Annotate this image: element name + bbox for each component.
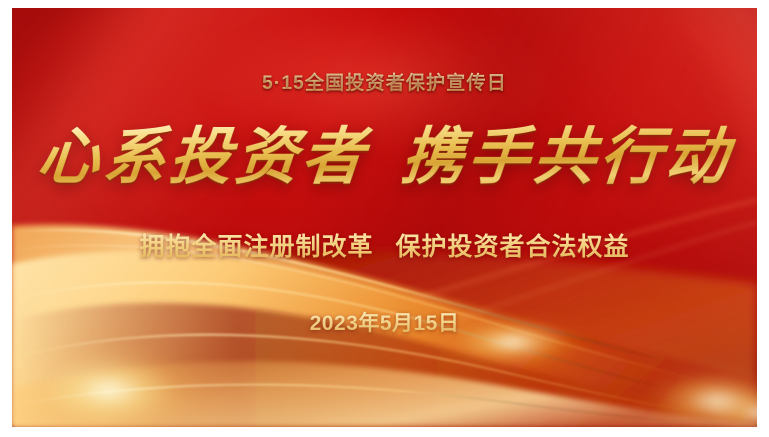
poster-subtitle: 拥抱全面注册制改革保护投资者合法权益 [12, 227, 757, 263]
poster-kicker-text: 5·15全国投资者保护宣传日 [12, 68, 757, 95]
poster-subtitle-part-2: 保护投资者合法权益 [396, 233, 630, 261]
poster-headline-part-1: 心系投资者 [34, 120, 370, 193]
poster-headline-part-2: 携手共行动 [398, 120, 734, 193]
poster-canvas: 5·15全国投资者保护宣传日 心系投资者携手共行动 拥抱全面注册制改革保护投资者… [12, 8, 757, 427]
poster-frame: 5·15全国投资者保护宣传日 心系投资者携手共行动 拥抱全面注册制改革保护投资者… [0, 0, 769, 437]
poster-subtitle-part-1: 拥抱全面注册制改革 [139, 233, 373, 261]
poster-content: 5·15全国投资者保护宣传日 心系投资者携手共行动 拥抱全面注册制改革保护投资者… [12, 8, 757, 427]
poster-headline: 心系投资者携手共行动 [12, 124, 757, 191]
poster-date-text: 2023年5月15日 [12, 307, 757, 337]
